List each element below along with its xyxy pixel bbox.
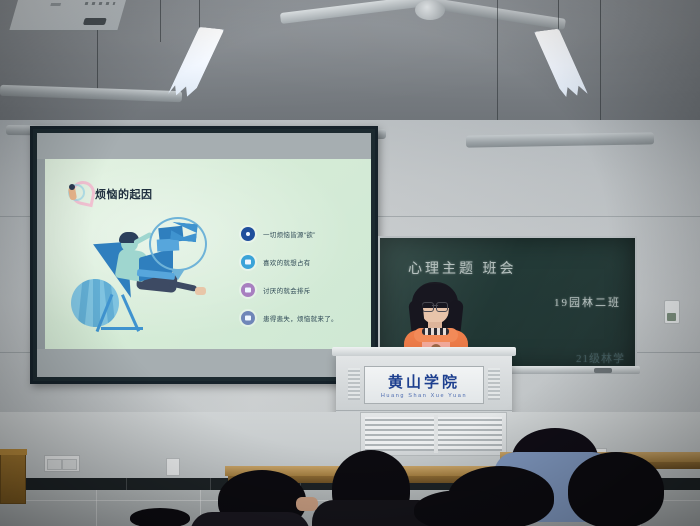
glasses-icon — [422, 302, 448, 310]
presenter-collar — [422, 328, 449, 335]
bullet-label: 患得患失，烦恼就来了。 — [263, 313, 338, 323]
school-name-pinyin: Huang Shan Xue Yuan — [381, 393, 467, 399]
podium-name-plate: 黄山学院 Huang Shan Xue Yuan — [364, 366, 484, 404]
message-icon — [241, 311, 255, 325]
list-item: 喜欢的就想占有 — [241, 255, 338, 269]
ceiling — [0, 0, 700, 128]
mail-icon — [241, 283, 255, 297]
hanging-wire — [199, 0, 200, 30]
hanging-wire — [497, 0, 498, 130]
slide-illustration — [71, 217, 221, 337]
bullet-label: 讨厌的就会排斥 — [263, 285, 311, 295]
hanging-wire — [160, 0, 161, 42]
audience-hand — [296, 497, 318, 511]
power-outlet-single[interactable] — [166, 458, 180, 476]
classroom-photo: 烦恼的起因 — [0, 0, 700, 526]
screen-band-top — [37, 133, 371, 159]
screen-surface: 烦恼的起因 — [37, 133, 371, 377]
podium-decor-panel — [348, 368, 360, 400]
bullet-label: 一切烦恼皆源“欲” — [263, 229, 316, 239]
fan-hub — [415, 0, 445, 20]
wooden-cabinet — [0, 452, 26, 504]
screen-band-bottom — [37, 349, 371, 377]
ceiling-fan — [280, 0, 540, 38]
location-pin-icon — [241, 227, 255, 241]
speech-bubble-icon — [149, 217, 207, 271]
projector-vent — [85, 2, 116, 5]
audience-head — [414, 490, 510, 526]
list-item: 一切烦恼皆源“欲” — [241, 227, 338, 241]
person-mascot-logo-icon — [67, 181, 89, 207]
slide-content: 烦恼的起因 — [45, 159, 371, 349]
projector-label-strip — [50, 3, 61, 6]
wall-light-switch[interactable] — [664, 300, 680, 324]
envelope-icon — [241, 255, 255, 269]
blackboard-title: 心理主题 班会 — [408, 258, 517, 278]
hanging-wire — [97, 30, 98, 92]
audience-head — [130, 508, 190, 526]
wall-ventilation-grille — [360, 412, 507, 456]
power-outlet-double[interactable] — [44, 455, 80, 472]
fan-blade — [280, 0, 428, 24]
hanging-wire — [600, 0, 601, 128]
slide-header: 烦恼的起因 — [67, 181, 153, 207]
list-item: 讨厌的就会排斥 — [241, 283, 338, 297]
slide-bullet-list: 一切烦恼皆源“欲” 喜欢的就想占有 讨厌的就会排斥 患得患失，烦恼就来了。 — [241, 227, 338, 325]
podium-top-surface — [332, 347, 516, 356]
school-name-cn: 黄山学院 — [388, 371, 460, 392]
audience-head — [568, 452, 664, 526]
podium-decor-panel — [488, 368, 500, 400]
bullet-label: 喜欢的就想占有 — [263, 257, 311, 267]
projector-lens-icon — [83, 18, 107, 25]
blackboard-class-name: 19园林二班 — [554, 294, 621, 310]
projection-screen[interactable]: 烦恼的起因 — [30, 126, 378, 384]
audience-shoulders — [190, 512, 310, 526]
ceiling-projector — [9, 0, 127, 32]
list-item: 患得患失，烦恼就来了。 — [241, 311, 338, 325]
slide-title: 烦恼的起因 — [95, 186, 153, 202]
blackboard-faint-text: 21级林学 — [576, 350, 625, 366]
hanging-wire — [558, 0, 559, 32]
